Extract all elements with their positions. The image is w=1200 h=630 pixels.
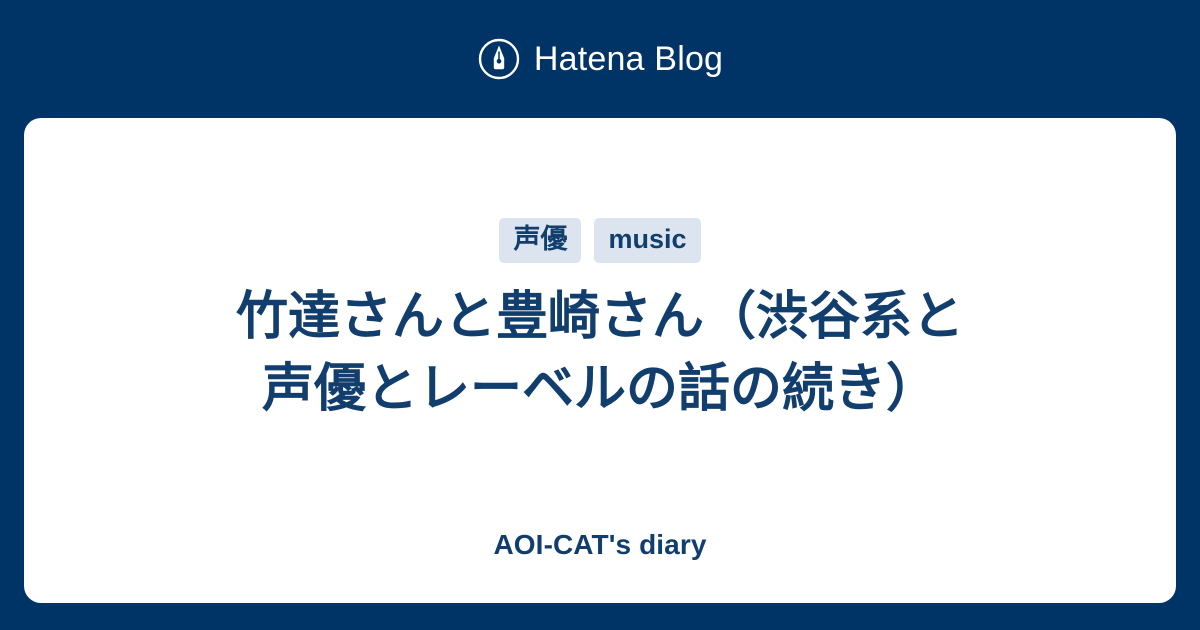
content-card: 声優 music 竹達さんと豊崎さん（渋谷系と 声優とレーベルの話の続き） AO… [24, 118, 1176, 603]
entry-title-line: 声優とレーベルの話の続き） [262, 360, 938, 418]
brand-header: Hatena Blog [0, 0, 1200, 118]
brand-name: Hatena Blog [534, 42, 723, 76]
blog-name[interactable]: AOI-CAT's diary [24, 528, 1176, 562]
entry-title: 竹達さんと豊崎さん（渋谷系と 声優とレーベルの話の続き） [236, 281, 964, 425]
tag-list: 声優 music [499, 218, 700, 263]
hatena-blog-ogp-card: Hatena Blog 声優 music 竹達さんと豊崎さん（渋谷系と 声優とレ… [0, 0, 1200, 630]
tag-item[interactable]: music [594, 218, 700, 263]
pen-nib-circle-icon [477, 37, 521, 81]
tag-item[interactable]: 声優 [499, 218, 581, 263]
entry-title-line: 竹達さんと豊崎さん（渋谷系と [236, 288, 964, 346]
